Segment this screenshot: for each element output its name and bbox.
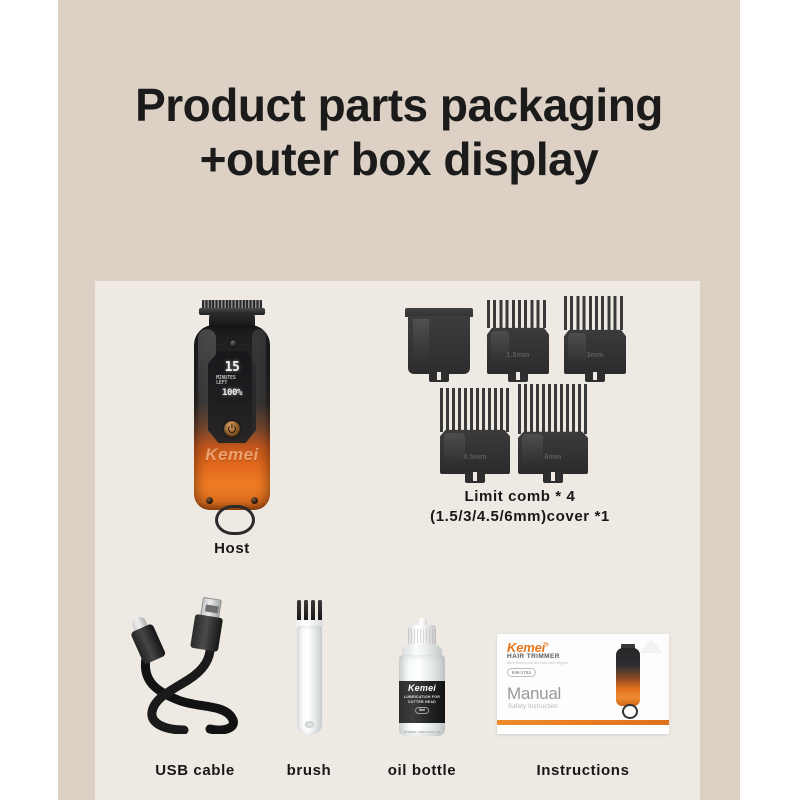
- comb-sheen: [491, 331, 510, 365]
- limit-comb-3mm: 3mm: [564, 296, 626, 386]
- caption-instructions: Instructions: [497, 762, 669, 779]
- comb-body: [487, 326, 549, 374]
- caption-limit-combs-line-1: Limit comb * 4: [400, 488, 640, 505]
- manual-model-number: KM-1761: [507, 668, 536, 677]
- usb-a-shell: [190, 614, 223, 652]
- usb-cable: [132, 596, 258, 734]
- caption-usb-cable: USB cable: [132, 762, 258, 779]
- brush-bristle: [311, 600, 315, 622]
- comb-teeth: [564, 296, 626, 330]
- brush-bristle: [318, 600, 322, 622]
- brush-bristles: [297, 600, 322, 622]
- manual-product-type: HAIR TRIMMER: [507, 654, 560, 661]
- caption-oil-bottle: oil bottle: [378, 762, 466, 779]
- power-icon: [228, 425, 236, 433]
- manual-subtitle: Safety Instruction: [508, 704, 558, 710]
- oil-label-subtitle: LUBRICATION FOR CUTTER HEAD: [399, 695, 445, 705]
- blade-cover: [405, 308, 473, 382]
- page-title-line-1: Product parts packaging: [58, 78, 740, 132]
- manual-cover-trimmer-image: [615, 644, 641, 718]
- oil-bottle-body: Kemei LUBRICATION FOR CUTTER HEAD 5ml TR…: [399, 655, 445, 736]
- limit-comb-1-5mm: 1.5mm: [487, 300, 549, 386]
- cover-body: [408, 316, 470, 374]
- limit-comb-4-5mm: 4.5mm: [440, 388, 510, 484]
- trimmer-screw-right: [251, 497, 258, 504]
- oil-bottle-label: Kemei LUBRICATION FOR CUTTER HEAD 5ml: [399, 681, 445, 723]
- caption-brush: brush: [276, 762, 342, 779]
- manual-registered-mark: ®: [545, 643, 548, 649]
- oil-bottle: Kemei LUBRICATION FOR CUTTER HEAD 5ml TR…: [392, 618, 452, 736]
- oil-label-footnote: TRIMMER LUBRICATING OIL: [399, 731, 445, 734]
- lcd-unit-label: MINUTES LEFT: [216, 376, 248, 386]
- trimmer-top-screw: [230, 340, 237, 347]
- trimmer-screw-left: [206, 497, 213, 504]
- comb-teeth: [518, 384, 588, 434]
- caption-host: Host: [186, 540, 278, 557]
- oil-bottle-cap: [408, 625, 436, 647]
- comb-sheen: [568, 333, 587, 365]
- manual-arrow-graphic: [639, 639, 663, 653]
- product-display-page: Product parts packaging +outer box displ…: [0, 0, 800, 800]
- cover-notch: [437, 372, 441, 380]
- page-title-line-2: +outer box display: [58, 132, 740, 186]
- limit-comb-6mm: 6mm: [518, 384, 588, 484]
- page-title: Product parts packaging +outer box displ…: [58, 78, 740, 187]
- cover-flange: [405, 308, 473, 317]
- lcd-battery-value: 100%: [222, 389, 242, 398]
- comb-notch: [516, 372, 520, 380]
- oil-label-volume: 5ml: [415, 707, 429, 714]
- brush-bristle: [297, 600, 301, 622]
- comb-notch: [473, 472, 477, 481]
- cleaning-brush: [292, 600, 326, 735]
- comb-size-label: 6mm: [518, 454, 588, 461]
- cover-sheen: [413, 319, 429, 363]
- trimmer-lcd-display: 15 MINUTES LEFT 100%: [216, 361, 248, 411]
- comb-size-label: 3mm: [564, 352, 626, 359]
- lcd-primary-value: 15: [225, 361, 240, 374]
- brush-handle: [297, 626, 322, 735]
- caption-limit-combs-line-2: (1.5/3/4.5/6mm)cover *1: [400, 508, 640, 525]
- comb-notch: [551, 472, 555, 481]
- manual-trimmer-loop: [622, 704, 638, 719]
- oil-label-brand: Kemei: [408, 684, 436, 693]
- comb-body: [564, 328, 626, 374]
- comb-body: [440, 428, 510, 474]
- trimmer-body: 15 MINUTES LEFT 100% Kemei: [194, 325, 270, 510]
- power-button[interactable]: [224, 421, 240, 437]
- comb-teeth: [487, 300, 549, 328]
- manual-tagline: Multifunctional electric hair clipper: [507, 662, 568, 666]
- comb-size-label: 1.5mm: [487, 352, 549, 359]
- trimmer-hanging-loop: [215, 505, 255, 535]
- comb-size-label: 4.5mm: [440, 454, 510, 461]
- host-trimmer: 15 MINUTES LEFT 100% Kemei: [186, 300, 278, 532]
- manual-bottom-band: [497, 725, 669, 734]
- comb-notch: [593, 372, 597, 380]
- instruction-manual: Kemei® HAIR TRIMMER Multifunctional elec…: [497, 634, 669, 734]
- trimmer-brand-label: Kemei: [194, 445, 270, 465]
- manual-title: Manual: [507, 685, 561, 702]
- manual-trimmer-body: [616, 648, 640, 706]
- comb-body: [518, 430, 588, 474]
- comb-teeth: [440, 388, 510, 432]
- brush-bristle: [304, 600, 308, 622]
